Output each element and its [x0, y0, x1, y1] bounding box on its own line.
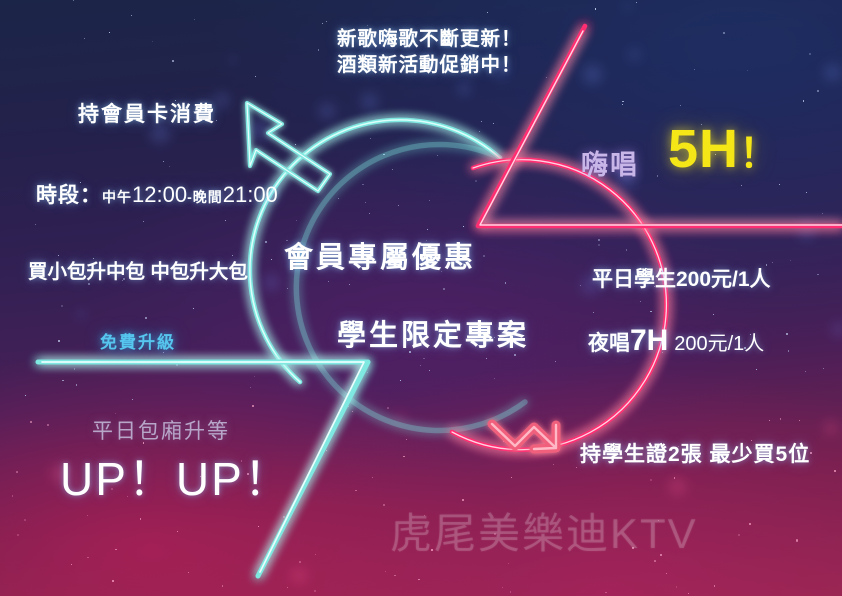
night-hours: 7H — [630, 324, 668, 357]
time-row: 時段：中午12:00-晚間21:00 — [36, 184, 278, 206]
time-noon-prefix: 中午 — [102, 189, 132, 205]
center-title-student: 學生限定專案 — [337, 322, 529, 351]
sing-label: 嗨唱 — [581, 152, 639, 179]
headline-line-2: 酒類新活動促銷中！ — [337, 56, 522, 76]
upup-text: UP！UP！ — [60, 456, 292, 502]
student-id-note: 持學生證2張 最少買5位 — [580, 444, 810, 465]
time-start: 12:00 — [132, 182, 187, 207]
ktv-promo-poster: 新歌嗨歌不斷更新！ 酒類新活動促銷中！ 持會員卡消費 時段：中午12:00-晚間… — [0, 0, 842, 596]
headline-line-1: 新歌嗨歌不斷更新！ — [337, 30, 522, 50]
weekday-student-price: 平日學生200元/1人 — [592, 269, 771, 290]
cyan-arc — [250, 120, 525, 431]
arrow-up-left-icon — [247, 103, 330, 191]
time-night-prefix: 晚間 — [193, 189, 223, 205]
night-price: 200元/1人 — [674, 333, 764, 355]
arrow-down-right-icon — [492, 424, 556, 449]
brand-watermark: 虎尾美樂迪KTV — [390, 500, 698, 561]
time-label: 時段： — [36, 184, 102, 207]
night-label: 夜唱 — [588, 332, 630, 355]
sing-hours: 5H — [668, 119, 739, 179]
free-upgrade-label: 免費升級 — [100, 334, 176, 351]
member-card-note: 持會員卡消費 — [78, 104, 216, 125]
time-end: 21:00 — [223, 182, 278, 207]
upgrade-rule: 買小包升中包 中包升大包 — [28, 263, 248, 283]
pink-angle-line — [478, 26, 842, 226]
pink-arc — [452, 160, 666, 450]
sing-hours-group: 5H！ — [668, 122, 780, 176]
sing-bang: ！ — [739, 132, 780, 176]
center-title-member: 會員專屬優惠 — [284, 244, 476, 273]
night-price-row: 夜唱7H 200元/1人 — [588, 326, 764, 356]
weekday-room-upgrade: 平日包廂升等 — [92, 421, 230, 442]
